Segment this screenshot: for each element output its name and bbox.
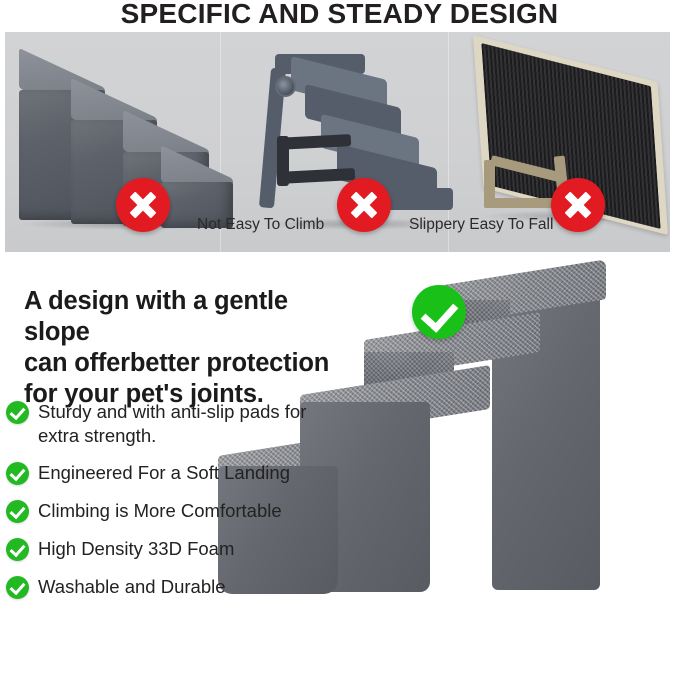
feature-list: Sturdy and with anti-slip pads for extra…: [6, 400, 336, 613]
headline-line-1: A design with a gentle slope: [24, 286, 354, 348]
list-item: Climbing is More Comfortable: [6, 499, 336, 523]
feature-text: Engineered For a Soft Landing: [38, 461, 290, 485]
infographic-page: SPECIFIC AND STEADY DESIGN: [0, 0, 679, 679]
folding-brace: [277, 136, 289, 186]
list-item: Washable and Durable: [6, 575, 336, 599]
list-item: Sturdy and with anti-slip pads for extra…: [6, 400, 336, 447]
caption-not-easy-to-climb: Not Easy To Climb: [197, 216, 324, 234]
reject-badge-wooden-ramp: [551, 178, 605, 232]
dog-illustration: [455, 662, 670, 679]
headline-line-2: can offerbetter protection: [24, 348, 354, 379]
check-circle-icon: [6, 500, 29, 523]
reject-badge-folding-stairs: [337, 178, 391, 232]
list-item: Engineered For a Soft Landing: [6, 461, 336, 485]
caption-slippery-easy-to-fall: Slippery Easy To Fall: [409, 216, 553, 234]
reject-badge-foam-stairs: [116, 178, 170, 232]
feature-text: Climbing is More Comfortable: [38, 499, 282, 523]
feature-text: Sturdy and with anti-slip pads for extra…: [38, 400, 336, 447]
check-circle-icon: [6, 462, 29, 485]
comparison-panel: Not Easy To Climb Slippery Easy To Fall: [5, 32, 670, 252]
hero-headline: A design with a gentle slope can offerbe…: [24, 286, 354, 410]
list-item: High Density 33D Foam: [6, 537, 336, 561]
check-circle-icon: [6, 538, 29, 561]
approve-check-badge: [412, 285, 466, 339]
page-title: SPECIFIC AND STEADY DESIGN: [0, 0, 679, 30]
feature-text: Washable and Durable: [38, 575, 226, 599]
check-circle-icon: [6, 401, 29, 424]
check-circle-icon: [6, 576, 29, 599]
feature-text: High Density 33D Foam: [38, 537, 234, 561]
folding-hinge-icon: [275, 76, 296, 97]
